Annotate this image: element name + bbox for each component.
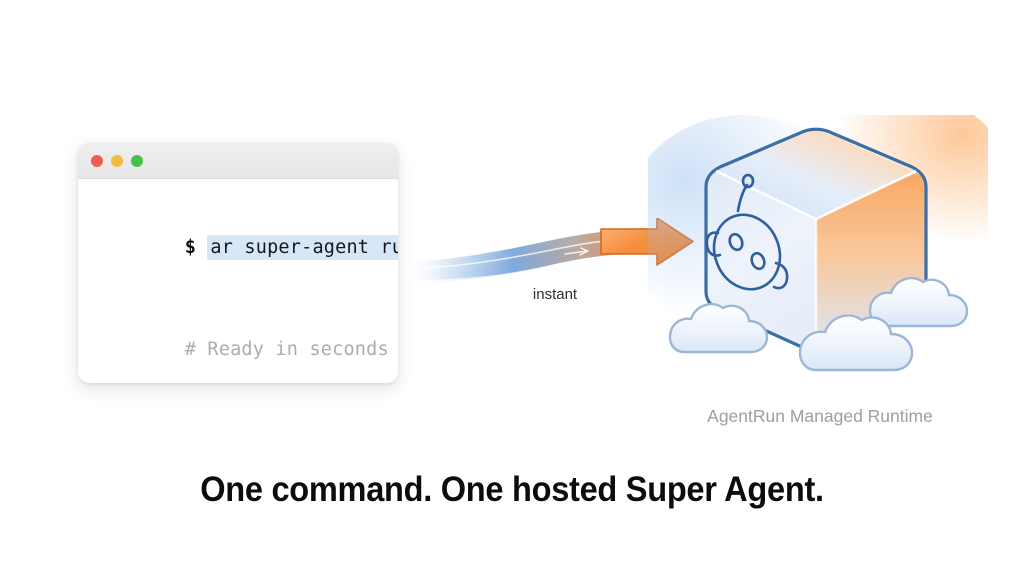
- terminal-comment-line: # Ready in seconds: [94, 299, 398, 383]
- headline: One command. One hosted Super Agent.: [36, 470, 988, 510]
- terminal-body[interactable]: $ ar super-agent run # Ready in seconds: [78, 179, 398, 383]
- prompt-sigil: $: [185, 237, 196, 258]
- cube-illustration-svg: [648, 115, 988, 405]
- terminal-command-text: ar super-agent run: [207, 235, 398, 260]
- comment-sigil: #: [185, 339, 196, 360]
- managed-runtime-illustration: [648, 115, 988, 405]
- window-zoom-button[interactable]: [131, 155, 143, 167]
- slide-canvas: $ ar super-agent run # Ready in seconds: [0, 0, 1024, 572]
- window-minimize-button[interactable]: [111, 155, 123, 167]
- illustration-caption: AgentRun Managed Runtime: [620, 406, 1020, 427]
- terminal-titlebar: [78, 143, 398, 179]
- terminal-window: $ ar super-agent run # Ready in seconds: [78, 143, 398, 383]
- window-close-button[interactable]: [91, 155, 103, 167]
- terminal-comment-text: Ready in seconds: [207, 339, 388, 360]
- terminal-command-line: $ ar super-agent run: [94, 197, 398, 299]
